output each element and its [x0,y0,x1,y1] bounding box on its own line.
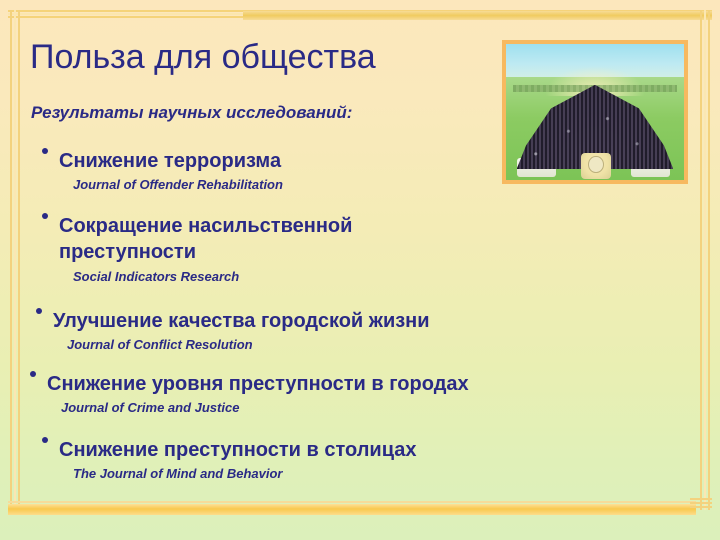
crowd-photo [502,40,688,184]
frame-left-rule-middle [14,10,16,510]
frame-corner-tick-1 [690,498,712,500]
presentation-slide: Польза для общества Результаты научных и… [0,0,720,540]
bullet-text: Снижение преступности в столицах [59,437,417,463]
list-item: Улучшение качества городской жизни Journ… [36,308,636,353]
bullet-dot-icon [42,148,48,154]
frame-left-rule-inner [18,10,20,510]
bullet-text: Снижение терроризма [59,148,281,174]
bullet-line: Снижение терроризма [42,148,482,174]
bullet-text: Снижение уровня преступности в городах [47,371,469,397]
frame-top-band [243,11,712,20]
frame-left-rule-outer [10,10,12,510]
bullet-source: Journal of Crime and Justice [61,399,670,416]
bullet-dot-icon [36,308,42,314]
bullet-text-line2: преступности [59,239,512,265]
bullet-line: Сокращение насильственной [42,213,512,239]
list-item: Снижение уровня преступности в городах J… [30,371,670,416]
bullet-source: Social Indicators Research [73,268,512,285]
bullet-text: Улучшение качества городской жизни [53,308,430,334]
frame-corner-tick-2 [690,502,712,504]
frame-right-rule-outer [700,10,702,510]
bullet-dot-icon [42,213,48,219]
bullet-dot-icon [30,371,36,377]
bullet-line: Снижение преступности в столицах [42,437,642,463]
bullet-text: Сокращение насильственной [59,213,352,239]
list-item: Снижение преступности в столицах The Jou… [42,437,642,482]
list-item: Снижение терроризма Journal of Offender … [42,148,482,193]
frame-corner-tick-3 [690,506,712,508]
photo-stage-center [581,153,611,179]
bullet-line: Снижение уровня преступности в городах [30,371,670,397]
slide-title: Польза для общества [30,38,376,77]
bullet-dot-icon [42,437,48,443]
list-item: Сокращение насильственной преступности S… [42,213,512,285]
bullet-source: Journal of Offender Rehabilitation [73,176,482,193]
frame-right-rule-inner [708,10,710,510]
frame-bottom-rule [8,501,696,503]
bullet-source: The Journal of Mind and Behavior [73,465,642,482]
bullet-line: Улучшение качества городской жизни [36,308,636,334]
frame-bottom-band [8,504,696,515]
frame-right-rule-middle [704,10,706,510]
bullet-source: Journal of Conflict Resolution [67,336,636,353]
slide-subtitle: Результаты научных исследований: [31,103,352,123]
